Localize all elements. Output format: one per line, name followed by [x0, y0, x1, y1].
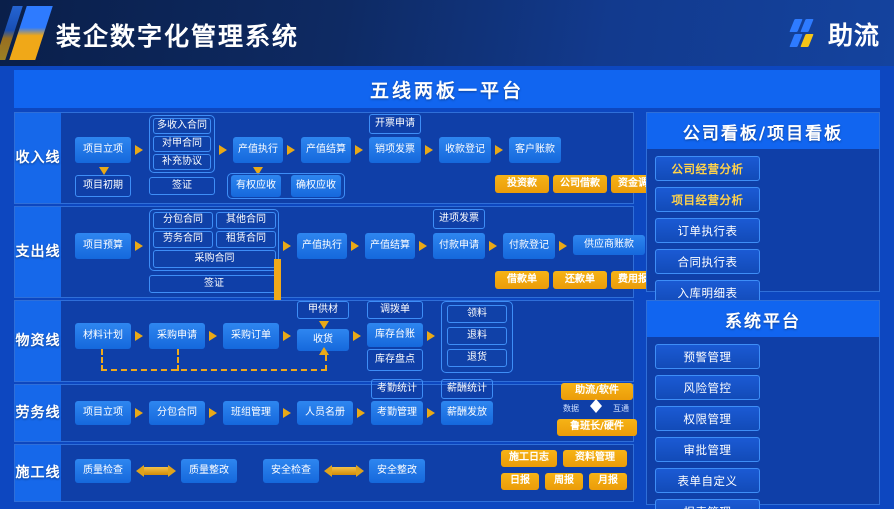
node-goods-return[interactable]: 退货 [447, 349, 507, 367]
node-project-setup-labor[interactable]: 项目立项 [75, 401, 131, 425]
node-project-setup[interactable]: 项目立项 [75, 137, 131, 163]
node-project-budget[interactable]: 项目预算 [75, 233, 131, 259]
node-team-management[interactable]: 班组管理 [223, 401, 279, 425]
tile-company-operation-analysis[interactable]: 公司经营分析 [655, 156, 760, 181]
row-label-expense: 支出线 [15, 207, 61, 297]
row-label-labor: 劳务线 [15, 385, 61, 441]
node-output-execute-expense[interactable]: 产值执行 [297, 233, 347, 259]
sync-down-arrow-icon [590, 406, 602, 413]
tile-report-management[interactable]: 报表管理 [655, 499, 760, 509]
node-output-execute[interactable]: 产值执行 [233, 137, 283, 163]
btn-repayment-slip[interactable]: 还款单 [553, 271, 607, 289]
node-confirmed-receivable[interactable]: 确权应收 [291, 175, 341, 197]
node-salary-payout[interactable]: 薪酬发放 [441, 401, 493, 425]
panel-system-platform-title: 系统平台 [647, 301, 879, 337]
panel-system-platform-tiles: 预警管理 风险管控 权限管理 审批管理 表单自定义 报表管理 开放平台 打印管理… [647, 337, 879, 509]
tile-risk-control[interactable]: 风险管控 [655, 375, 760, 400]
flow-row-income: 收入线 项目立项 项目初期 多收入合同 对甲合同 补充协议 签证 产值执行 有权… [14, 112, 634, 204]
brand-logo: 助流 [791, 16, 880, 52]
node-invoice-request[interactable]: 开票申请 [369, 114, 421, 134]
node-owner-supplied-material[interactable]: 甲供材 [297, 301, 349, 319]
node-project-early[interactable]: 项目初期 [75, 175, 131, 197]
flow-row-income-body: 项目立项 项目初期 多收入合同 对甲合同 补充协议 签证 产值执行 有权应收 产… [61, 113, 633, 203]
btn-zhuliu-software[interactable]: 助流/软件 [561, 383, 633, 400]
btn-lubanzhang-hardware[interactable]: 鲁班长/硬件 [557, 419, 637, 436]
node-payment-request[interactable]: 付款申请 [433, 233, 485, 259]
btn-construction-log[interactable]: 施工日志 [501, 450, 557, 467]
node-attendance-manage[interactable]: 考勤管理 [371, 401, 423, 425]
dashed-seg-a [101, 349, 103, 371]
node-purchase-contract[interactable]: 采购合同 [153, 250, 276, 268]
node-safety-check[interactable]: 安全检查 [263, 459, 319, 483]
flow-row-labor: 劳务线 项目立项 分包合同 班组管理 人员名册 考勤统计 考勤管理 薪酬统计 薪… [14, 384, 634, 442]
banner-title: 五线两板一平台 [370, 76, 524, 103]
flow-row-material-body: 材料计划 采购申请 采购订单 甲供材 收货 调拨单 库存台账 库存盘点 领料 退… [61, 301, 633, 381]
dashed-seg-b [101, 369, 327, 371]
lightning-blocks-logo-icon [791, 18, 821, 50]
node-entitled-receivable[interactable]: 有权应收 [231, 175, 281, 197]
node-purchase-order[interactable]: 采购订单 [223, 323, 279, 349]
btn-investment-fund[interactable]: 投资款 [495, 175, 549, 193]
sync-up-arrow-icon [590, 399, 602, 406]
flow-diagram: 收入线 项目立项 项目初期 多收入合同 对甲合同 补充协议 签证 产值执行 有权… [14, 112, 634, 505]
node-owner-contract[interactable]: 对甲合同 [153, 136, 211, 152]
tile-form-customization[interactable]: 表单自定义 [655, 468, 760, 493]
tile-project-operation-analysis[interactable]: 项目经营分析 [655, 187, 760, 212]
node-output-settle-expense[interactable]: 产值结算 [365, 233, 415, 259]
tile-approval-management[interactable]: 审批管理 [655, 437, 760, 462]
btn-weekly-report[interactable]: 周报 [545, 473, 583, 490]
dashed-seg-c [177, 349, 179, 371]
node-supplier-account[interactable]: 供应商账款 [573, 235, 645, 255]
flow-row-labor-body: 项目立项 分包合同 班组管理 人员名册 考勤统计 考勤管理 薪酬统计 薪酬发放 … [61, 385, 633, 441]
btn-document-manage[interactable]: 资料管理 [563, 450, 627, 467]
panel-system-platform: 系统平台 预警管理 风险管控 权限管理 审批管理 表单自定义 报表管理 开放平台… [646, 300, 880, 505]
node-salary-stats[interactable]: 薪酬统计 [441, 379, 493, 399]
node-multi-income-contract[interactable]: 多收入合同 [153, 118, 211, 134]
tile-contract-execution[interactable]: 合同执行表 [655, 249, 760, 274]
node-staff-roster[interactable]: 人员名册 [297, 401, 353, 425]
tile-alert-management[interactable]: 预警管理 [655, 344, 760, 369]
label-interop: 互通 [613, 403, 629, 414]
node-visa-income[interactable]: 签证 [149, 177, 215, 195]
node-sub-contract[interactable]: 分包合同 [153, 212, 213, 229]
node-safety-rectify[interactable]: 安全整改 [369, 459, 425, 483]
node-output-settle[interactable]: 产值结算 [301, 137, 351, 163]
flow-row-construction: 施工线 质量检查 质量整改 安全检查 安全整改 施工日志 资料管理 日报 周报 … [14, 444, 634, 502]
btn-monthly-report[interactable]: 月报 [589, 473, 627, 490]
node-sub-contract-labor[interactable]: 分包合同 [149, 401, 205, 425]
quality-bidirectional-arrow [143, 467, 169, 475]
node-other-contract[interactable]: 其他合同 [216, 212, 276, 229]
panel-dashboard-title: 公司看板/项目看板 [647, 113, 879, 149]
page-title: 装企数字化管理系统 [56, 17, 299, 53]
node-material-issue[interactable]: 领料 [447, 305, 507, 323]
node-transfer-slip[interactable]: 调拨单 [367, 301, 423, 319]
row-label-construction: 施工线 [15, 445, 61, 501]
node-material-return[interactable]: 退料 [447, 327, 507, 345]
flow-row-material: 物资线 材料计划 采购申请 采购订单 甲供材 收货 调拨单 库存台账 库存盘点 … [14, 300, 634, 382]
node-payment-record[interactable]: 付款登记 [503, 233, 555, 259]
btn-daily-report[interactable]: 日报 [501, 473, 539, 490]
flow-row-expense-body: 项目预算 分包合同 其他合同 劳务合同 租赁合同 采购合同 签证 产值执行 产值… [61, 207, 633, 297]
node-stock-count[interactable]: 库存盘点 [367, 349, 423, 371]
node-lease-contract[interactable]: 租赁合同 [216, 231, 276, 248]
tile-order-execution[interactable]: 订单执行表 [655, 218, 760, 243]
node-attendance-stats[interactable]: 考勤统计 [371, 379, 423, 399]
node-customer-account[interactable]: 客户账款 [509, 137, 561, 163]
dashed-seg-d [325, 355, 327, 371]
node-quality-rectify[interactable]: 质量整改 [181, 459, 237, 483]
node-sales-invoice[interactable]: 销项发票 [369, 137, 421, 163]
node-stock-ledger[interactable]: 库存台账 [367, 323, 423, 347]
btn-loan-slip[interactable]: 借款单 [495, 271, 549, 289]
node-purchase-request[interactable]: 采购申请 [149, 323, 205, 349]
node-receipt-record[interactable]: 收款登记 [439, 137, 491, 163]
panel-dashboard: 公司看板/项目看板 公司经营分析 项目经营分析 订单执行表 合同执行表 入库明细… [646, 112, 880, 292]
app-root: 装企数字化管理系统 助流 五线两板一平台 收入线 项目立项 项目初期 多收入合同… [0, 0, 894, 509]
node-input-invoice[interactable]: 进项发票 [433, 209, 485, 229]
node-supplement-agreement[interactable]: 补充协议 [153, 154, 211, 170]
dashed-arrow-head [319, 347, 329, 355]
tile-permission-management[interactable]: 权限管理 [655, 406, 760, 431]
flow-row-expense: 支出线 项目预算 分包合同 其他合同 劳务合同 租赁合同 采购合同 签证 产值执… [14, 206, 634, 298]
node-labor-contract[interactable]: 劳务合同 [153, 231, 213, 248]
flow-row-construction-body: 质量检查 质量整改 安全检查 安全整改 施工日志 资料管理 日报 周报 月报 [61, 445, 633, 501]
row-label-material: 物资线 [15, 301, 61, 381]
row-label-income: 收入线 [15, 113, 61, 203]
node-material-plan[interactable]: 材料计划 [75, 323, 131, 349]
safety-bidirectional-arrow [331, 467, 357, 475]
main-banner: 五线两板一平台 [14, 70, 880, 108]
brand-name: 助流 [828, 16, 880, 52]
node-visa-expense[interactable]: 签证 [149, 275, 279, 293]
app-header: 装企数字化管理系统 助流 [0, 0, 894, 66]
node-quality-check[interactable]: 质量检查 [75, 459, 131, 483]
btn-company-loan[interactable]: 公司借款 [553, 175, 607, 193]
label-data: 数据 [563, 403, 579, 414]
